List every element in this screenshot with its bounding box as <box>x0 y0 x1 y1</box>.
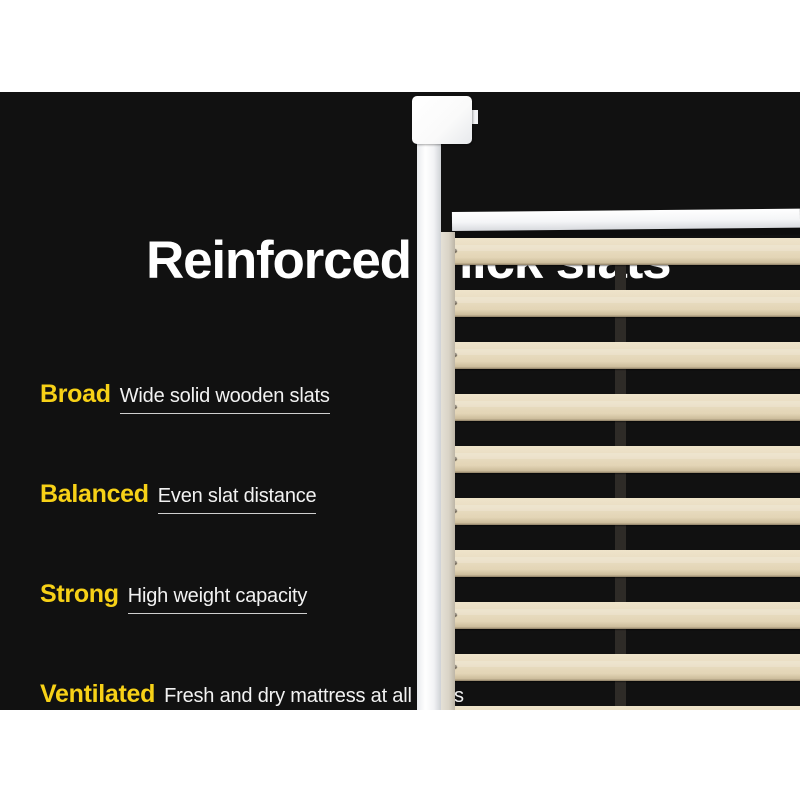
wooden-slat <box>440 654 800 681</box>
wooden-slat <box>440 706 800 710</box>
feature-item-ventilated: Ventilated Fresh and dry mattress at all… <box>40 680 440 710</box>
feature-key: Ventilated <box>40 680 155 709</box>
product-photo-bed-slats <box>400 92 800 710</box>
feature-key: Broad <box>40 380 111 409</box>
bed-frame-top-rail <box>452 209 800 231</box>
feature-list: Broad Wide solid wooden slats Balanced E… <box>40 380 440 710</box>
wooden-slat <box>440 498 800 525</box>
feature-desc-underline: Wide solid wooden slats <box>120 385 330 414</box>
feature-description: Wide solid wooden slats <box>120 385 330 407</box>
wooden-slat <box>440 342 800 369</box>
feature-key: Balanced <box>40 480 149 509</box>
feature-desc-underline: Even slat distance <box>158 485 317 514</box>
wooden-slat <box>440 446 800 473</box>
feature-description: Even slat distance <box>158 485 317 507</box>
wooden-slat <box>440 550 800 577</box>
bed-frame-leg <box>417 136 441 710</box>
wooden-slat <box>440 290 800 317</box>
bed-frame-corner-cap <box>412 96 472 144</box>
feature-item-strong: Strong High weight capacity <box>40 580 440 680</box>
wooden-slat <box>440 394 800 421</box>
wooden-slat <box>440 602 800 629</box>
wooden-slat <box>440 238 800 265</box>
feature-description: High weight capacity <box>128 585 307 607</box>
bed-frame-side-rail <box>440 232 455 710</box>
promo-banner: Reinforced thick slats Broad Wide solid … <box>0 92 800 710</box>
feature-desc-underline: High weight capacity <box>128 585 307 614</box>
wooden-slat-stack <box>440 238 800 710</box>
feature-item-broad: Broad Wide solid wooden slats <box>40 380 440 480</box>
feature-key: Strong <box>40 580 119 609</box>
feature-item-balanced: Balanced Even slat distance <box>40 480 440 580</box>
